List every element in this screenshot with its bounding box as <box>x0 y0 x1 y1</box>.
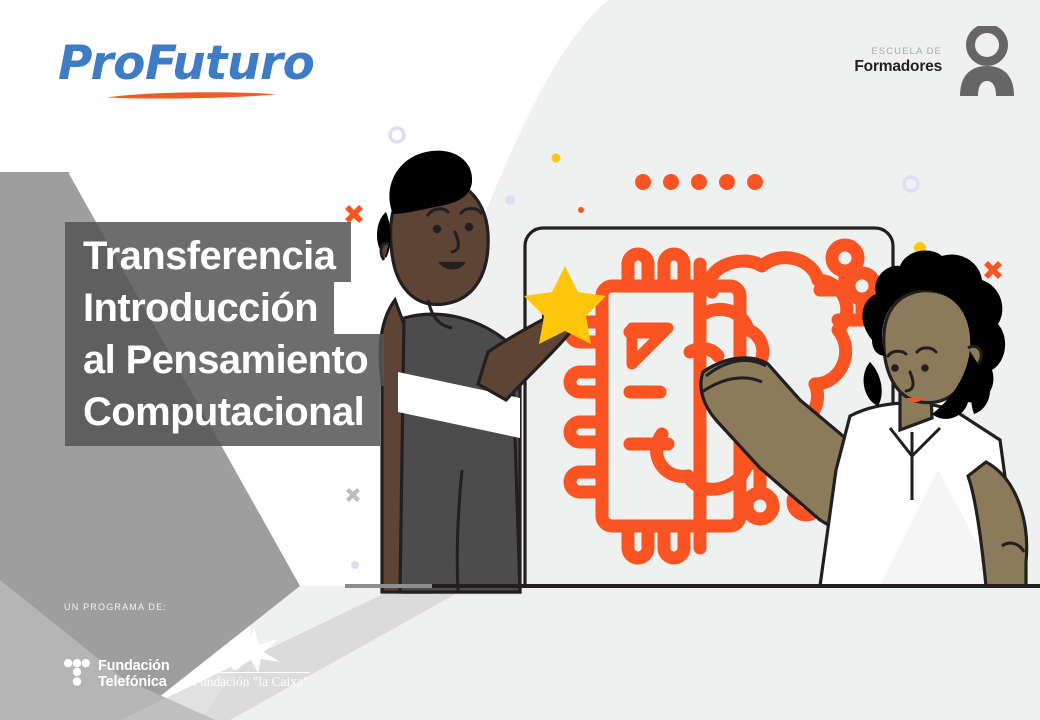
person-icon <box>956 26 1018 96</box>
fundacion-telefonica-logo[interactable]: Fundación Telefónica <box>64 658 170 690</box>
profuturo-wordmark: ProFuturo <box>58 38 288 90</box>
title-line-4: Computacional <box>65 386 380 446</box>
telefonica-line-2: Telefónica <box>98 674 170 690</box>
escuela-formadores-badge: ESCUELA DE Formadores <box>854 26 1018 96</box>
title-line-3: al Pensamiento <box>65 334 384 386</box>
sponsors-label: UN PROGRAMA DE: <box>64 602 364 612</box>
telefonica-wordmark: Fundación Telefónica <box>98 658 170 690</box>
escuela-de-label: ESCUELA DE <box>854 46 942 58</box>
la-caixa-star-icon <box>192 626 310 674</box>
title-line-1: Transferencia <box>65 222 351 282</box>
decor-orange-dot-small <box>578 207 584 213</box>
decor-lavender-dot-c <box>351 561 359 569</box>
title-line-2: Introducción <box>65 282 334 334</box>
sponsors-block: UN PROGRAMA DE: Fundación Telefónica <box>64 602 364 690</box>
profuturo-logo[interactable]: ProFuturo <box>58 38 288 110</box>
decor-yellow-dot-a <box>552 154 561 163</box>
decor-lavender-dot-a <box>505 195 515 205</box>
telefonica-line-1: Fundación <box>98 658 170 674</box>
telefonica-dots-icon <box>64 659 90 689</box>
escuela-formadores-text: ESCUELA DE Formadores <box>854 46 942 76</box>
page-title: Transferencia Introducción al Pensamient… <box>65 222 384 446</box>
la-caixa-wordmark: Fundación "la Caixa" <box>192 672 310 690</box>
slide-canvas: ProFuturo ESCUELA DE Formadores Transfer… <box>0 0 1040 720</box>
fundacion-la-caixa-logo[interactable]: Fundación "la Caixa" <box>192 626 310 690</box>
formadores-label: Formadores <box>854 58 942 76</box>
profuturo-underline-icon <box>106 90 278 100</box>
sponsors-row: Fundación Telefónica Fundación "la Caixa… <box>64 626 364 690</box>
